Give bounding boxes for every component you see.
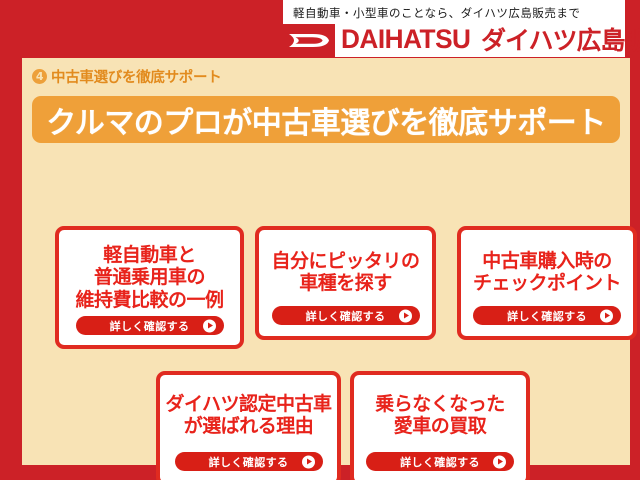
content-panel: 4 中古車選びを徹底サポート クルマのプロが中古車選びを徹底サポート 軽自動車と… (22, 58, 630, 465)
support-card[interactable]: 自分にピッタリの 車種を探す 詳しく確認する (255, 226, 436, 340)
card-title: 乗らなくなった 愛車の買取 (354, 393, 526, 438)
play-arrow-icon (302, 455, 315, 468)
play-arrow-icon (399, 309, 412, 322)
detail-button-label: 詳しく確認する (306, 308, 386, 324)
brand-logo[interactable]: DAIHATSU ダイハツ広島販売 (283, 24, 625, 57)
detail-button-label: 詳しく確認する (400, 454, 480, 470)
card-title: 軽自動車と 普通乗用車の 維持費比較の一例 (59, 244, 240, 311)
daihatsu-d-logo-icon (283, 24, 335, 57)
card-title: 中古車購入時の チェックポイント (461, 250, 633, 295)
support-card[interactable]: 乗らなくなった 愛車の買取 詳しく確認する (350, 371, 530, 480)
detail-button[interactable]: 詳しく確認する (272, 306, 420, 325)
support-card[interactable]: ダイハツ認定中古車 が選ばれる理由 詳しく確認する (156, 371, 341, 480)
brand-wordmark: DAIHATSU (341, 22, 470, 56)
section-label-text: 中古車選びを徹底サポート (51, 66, 221, 87)
detail-button[interactable]: 詳しく確認する (366, 452, 514, 471)
header-band: 軽自動車・小型車のことなら、ダイハツ広島販売まで DAIHATSU ダイハツ広島… (0, 0, 640, 58)
page-title: クルマのプロが中古車選びを徹底サポート (32, 96, 620, 143)
header-tagline: 軽自動車・小型車のことなら、ダイハツ広島販売まで (293, 5, 623, 21)
detail-button-label: 詳しく確認する (110, 318, 190, 334)
section-label: 4 中古車選びを徹底サポート (32, 66, 221, 86)
support-card[interactable]: 中古車購入時の チェックポイント 詳しく確認する (457, 226, 637, 340)
banner-root: 軽自動車・小型車のことなら、ダイハツ広島販売まで DAIHATSU ダイハツ広島… (0, 0, 640, 480)
detail-button[interactable]: 詳しく確認する (473, 306, 621, 325)
card-title: ダイハツ認定中古車 が選ばれる理由 (160, 393, 337, 438)
card-title: 自分にピッタリの 車種を探す (259, 250, 432, 295)
play-arrow-icon (203, 319, 216, 332)
play-arrow-icon (493, 455, 506, 468)
play-arrow-icon (600, 309, 613, 322)
detail-button-label: 詳しく確認する (507, 308, 587, 324)
support-card[interactable]: 軽自動車と 普通乗用車の 維持費比較の一例 詳しく確認する (55, 226, 244, 349)
detail-button[interactable]: 詳しく確認する (175, 452, 323, 471)
section-number-badge: 4 (32, 69, 47, 84)
detail-button-label: 詳しく確認する (209, 454, 289, 470)
detail-button[interactable]: 詳しく確認する (76, 316, 224, 335)
brand-name-jp: ダイハツ広島販売 (481, 24, 640, 57)
